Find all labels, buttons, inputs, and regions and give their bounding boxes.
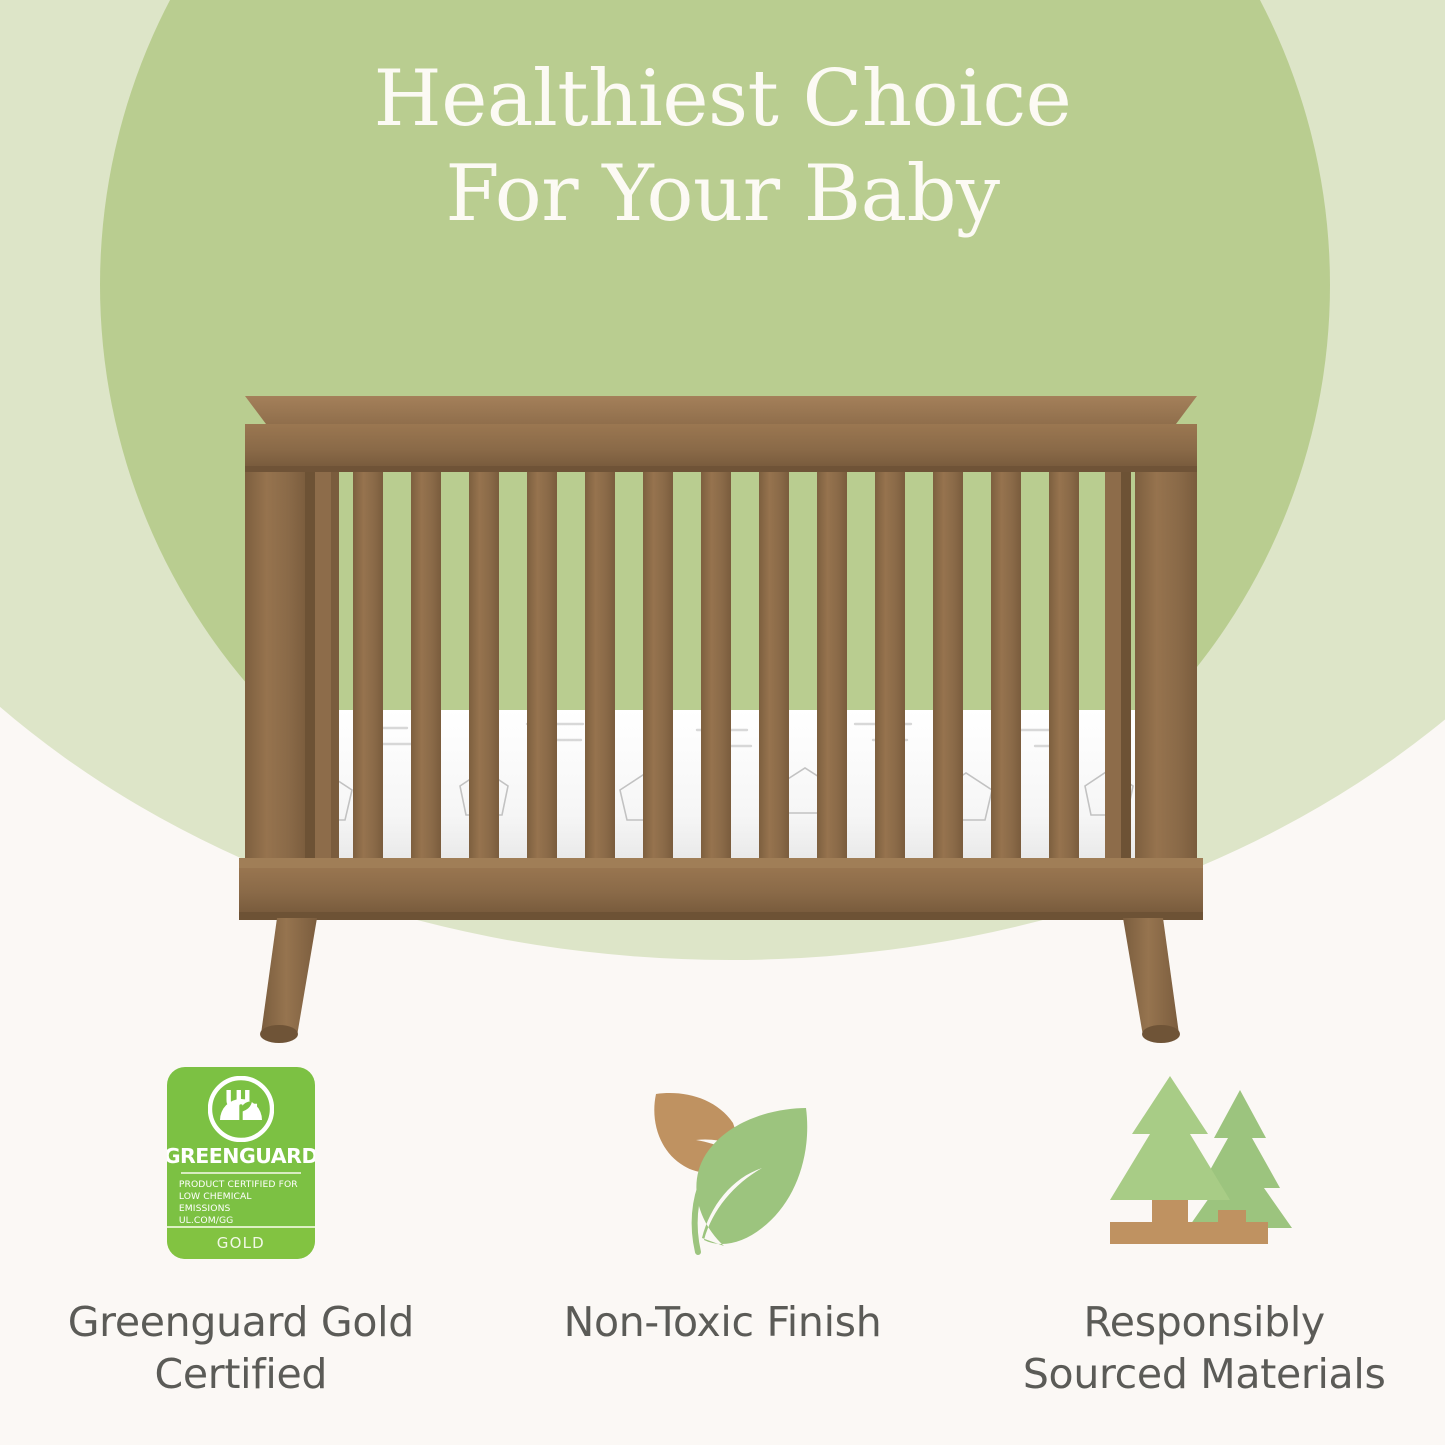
headline-line-1: Healthiest Choice (0, 52, 1445, 147)
crib-illustration (205, 372, 1235, 1044)
product-marketing-image: Healthiest Choice For Your Baby (0, 0, 1445, 1445)
badge-level-text: GOLD (167, 1226, 315, 1259)
badge-certification-text: PRODUCT CERTIFIED FOR LOW CHEMICAL EMISS… (179, 1179, 303, 1228)
two-leaves-icon (620, 1060, 826, 1266)
ul-mark-icon: UL (208, 1076, 274, 1142)
feature-greenguard: UL GREENGUARD PRODUCT CERTIFIED FOR LOW … (0, 1055, 482, 1401)
feature-responsible-materials: Responsibly Sourced Materials (963, 1055, 1445, 1401)
feature-icon-slot: UL GREENGUARD PRODUCT CERTIFIED FOR LOW … (167, 1055, 315, 1270)
headline: Healthiest Choice For Your Baby (0, 52, 1445, 242)
feature-label-responsible-materials: Responsibly Sourced Materials (1023, 1296, 1386, 1401)
greenguard-brand-text: GREENGUARD (167, 1144, 315, 1168)
feature-icon-slot (620, 1055, 826, 1270)
pine-trees-icon (1096, 1060, 1312, 1266)
feature-label-non-toxic: Non-Toxic Finish (564, 1296, 882, 1348)
greenguard-gold-badge-icon: UL GREENGUARD PRODUCT CERTIFIED FOR LOW … (167, 1067, 315, 1259)
feature-non-toxic: Non-Toxic Finish (482, 1055, 964, 1401)
feature-icon-slot (1096, 1055, 1312, 1270)
headline-line-2: For Your Baby (0, 147, 1445, 242)
badge-divider (181, 1172, 301, 1174)
feature-label-greenguard: Greenguard Gold Certified (68, 1296, 414, 1401)
crib-product-image (205, 372, 1235, 1044)
features-row: UL GREENGUARD PRODUCT CERTIFIED FOR LOW … (0, 1055, 1445, 1401)
